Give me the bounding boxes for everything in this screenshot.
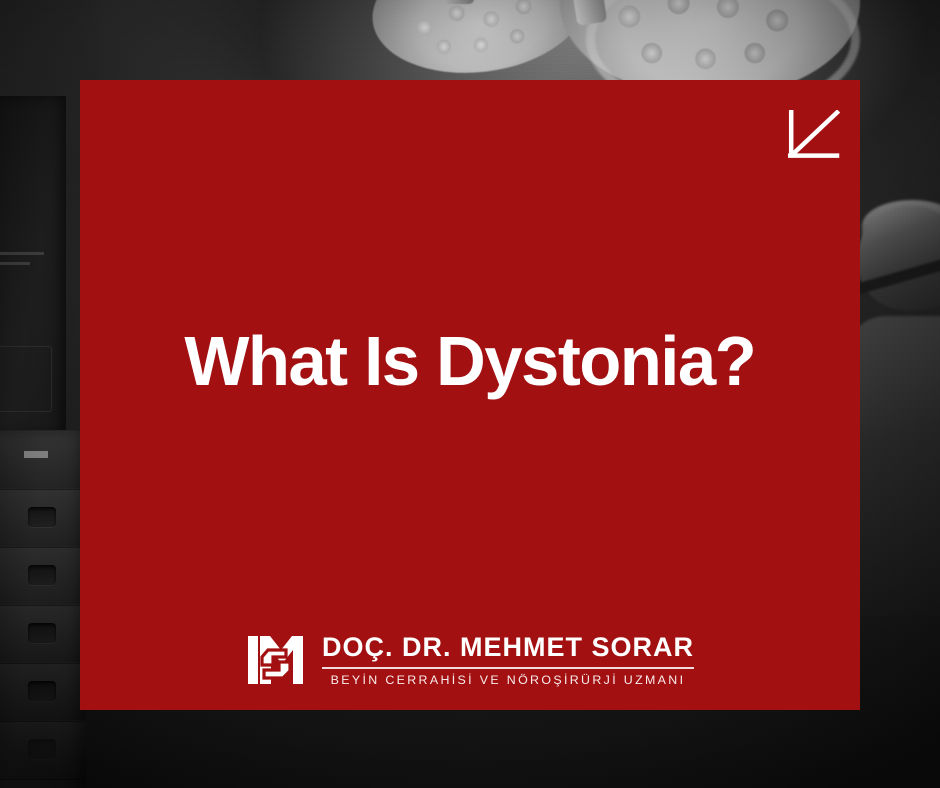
cabinet-drawer (0, 488, 86, 548)
brand-logo-lockup: DOÇ. DR. MEHMET SORAR BEYİN CERRAHİSİ VE… (80, 630, 860, 690)
drawer-cabinet (0, 430, 86, 788)
page-title: What Is Dystonia? (185, 325, 756, 399)
cabinet-drawer (0, 720, 86, 780)
equipment-column (0, 96, 66, 436)
brand-divider (322, 667, 694, 669)
brand-name: DOÇ. DR. MEHMET SORAR (322, 632, 694, 662)
drawer-handle (28, 507, 56, 527)
slide-canvas: What Is Dystonia? DOÇ. DR. MEHMET SORAR … (0, 0, 940, 788)
red-content-card: What Is Dystonia? DOÇ. DR. MEHMET SORAR … (80, 80, 860, 710)
brand-subtitle: BEYİN CERRAHİSİ VE NÖROŞİRÜRJİ UZMANI (322, 674, 694, 688)
drawer-handle (28, 739, 56, 759)
cabinet-drawer (0, 546, 86, 606)
cabinet-drawer (0, 604, 86, 664)
cabinet-drawer-label (24, 451, 48, 458)
drawer-handle (28, 565, 56, 585)
arrow-down-left-icon (788, 110, 840, 160)
equipment-slot (0, 252, 44, 255)
brand-logo-text: DOÇ. DR. MEHMET SORAR BEYİN CERRAHİSİ VE… (322, 632, 694, 688)
ms-monogram-icon (246, 630, 306, 690)
surgical-light-left-joint (444, 0, 474, 4)
title-container: What Is Dystonia? (80, 325, 860, 399)
drawer-handle (28, 623, 56, 643)
cabinet-drawer (0, 662, 86, 722)
cabinet-drawer (0, 430, 86, 490)
equipment-slot (0, 262, 30, 265)
drawer-handle (28, 681, 56, 701)
equipment-panel (0, 346, 52, 412)
surgeon-body (846, 316, 940, 616)
